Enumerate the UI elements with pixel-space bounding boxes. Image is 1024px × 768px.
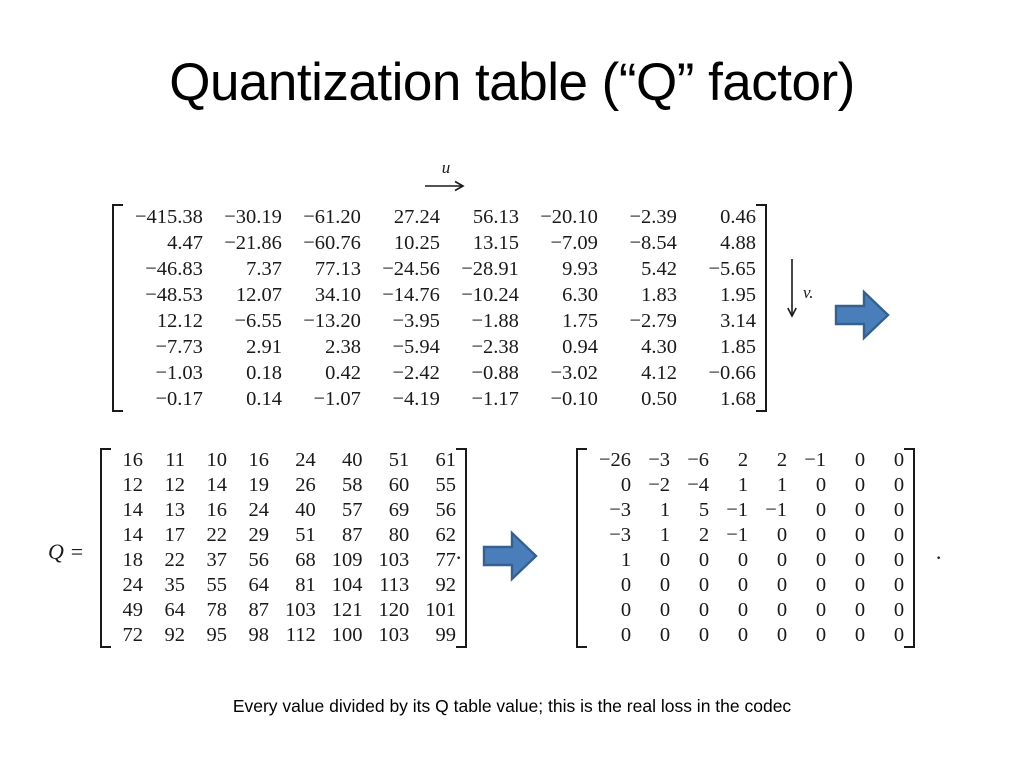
matrix-cell: 12 <box>111 473 143 498</box>
matrix-cell: 77.13 <box>282 256 361 282</box>
matrix-cell: 78 <box>185 598 227 623</box>
matrix-cell: −48.53 <box>123 282 203 308</box>
matrix-cell: 16 <box>185 498 227 523</box>
matrix-cell: 4.47 <box>123 230 203 256</box>
matrix-cell: 0 <box>787 573 826 598</box>
table-row: 49 64 78 87 103 121 120 101 <box>111 598 456 623</box>
matrix-cell: 1.83 <box>598 282 677 308</box>
matrix-cell: −2.79 <box>598 308 677 334</box>
matrix-cell: −1.07 <box>282 386 361 412</box>
matrix-cell: 81 <box>269 573 316 598</box>
matrix-cell: 11 <box>143 448 185 473</box>
matrix-cell: −0.10 <box>519 386 598 412</box>
matrix-cell: −5.94 <box>361 334 440 360</box>
matrix-cell: 103 <box>363 548 410 573</box>
matrix-cell: 80 <box>363 523 410 548</box>
matrix-cell: −6 <box>670 448 709 473</box>
matrix-cell: 1.95 <box>677 282 756 308</box>
table-row: 14 17 22 29 51 87 80 62 <box>111 523 456 548</box>
matrix-cell: −28.91 <box>440 256 519 282</box>
matrix-cell: 24 <box>227 498 269 523</box>
matrix-cell: 0 <box>826 473 865 498</box>
table-row: −26 −3 −6 2 2 −1 0 0 <box>587 448 904 473</box>
matrix-cell: 13 <box>143 498 185 523</box>
matrix-cell: 109 <box>316 548 363 573</box>
matrix-cell: 0.18 <box>203 360 282 386</box>
matrix-cell: 2 <box>709 448 748 473</box>
table-row: −3 1 5 −1 −1 0 0 0 <box>587 498 904 523</box>
matrix-cell: 14 <box>185 473 227 498</box>
matrix-cell: 0 <box>826 548 865 573</box>
table-row: 14 13 16 24 40 57 69 56 <box>111 498 456 523</box>
matrix-cell: 0 <box>787 523 826 548</box>
matrix-cell: 0 <box>631 598 670 623</box>
matrix-cell: 55 <box>409 473 456 498</box>
matrix-cell: 51 <box>269 523 316 548</box>
matrix-cell: 0 <box>865 448 904 473</box>
matrix-cell: 0 <box>865 573 904 598</box>
matrix-cell: 61 <box>409 448 456 473</box>
matrix-cell: 87 <box>316 523 363 548</box>
matrix-cell: 0 <box>587 598 631 623</box>
table-row: 72 92 95 98 112 100 103 99 <box>111 623 456 648</box>
matrix-cell: 0 <box>748 548 787 573</box>
matrix-cell: 34.10 <box>282 282 361 308</box>
table-row: 0 0 0 0 0 0 0 0 <box>587 573 904 598</box>
quantization-table-matrix: 16 11 10 16 24 40 51 61 12 12 14 19 26 5… <box>100 448 467 648</box>
matrix-cell: 113 <box>363 573 410 598</box>
matrix-cell: 18 <box>111 548 143 573</box>
matrix-cell: 0 <box>865 598 904 623</box>
matrix-cell: −3 <box>631 448 670 473</box>
matrix-cell: 60 <box>363 473 410 498</box>
matrix-cell: −61.20 <box>282 204 361 230</box>
table-row: 24 35 55 64 81 104 113 92 <box>111 573 456 598</box>
matrix-cell: 101 <box>409 598 456 623</box>
matrix-cell: 4.88 <box>677 230 756 256</box>
block-arrow-right-icon <box>834 289 890 341</box>
table-row: −0.17 0.14 −1.07 −4.19 −1.17 −0.10 0.50 … <box>123 386 756 412</box>
matrix-cell: −60.76 <box>282 230 361 256</box>
matrix-cell: 0 <box>787 623 826 648</box>
matrix-cell: −0.66 <box>677 360 756 386</box>
matrix-cell: −0.17 <box>123 386 203 412</box>
arrow-down-icon <box>786 258 798 327</box>
matrix-cell: 26 <box>269 473 316 498</box>
matrix-cell: 1.75 <box>519 308 598 334</box>
matrix-cell: −46.83 <box>123 256 203 282</box>
matrix-cell: 37 <box>185 548 227 573</box>
table-row: 0 0 0 0 0 0 0 0 <box>587 623 904 648</box>
matrix-cell: 0 <box>670 548 709 573</box>
matrix-cell: 100 <box>316 623 363 648</box>
matrix-cell: 16 <box>111 448 143 473</box>
matrix-cell: 17 <box>143 523 185 548</box>
table-row: 1 0 0 0 0 0 0 0 <box>587 548 904 573</box>
matrix-cell: 0.50 <box>598 386 677 412</box>
matrix-cell: 22 <box>185 523 227 548</box>
matrix-bracket-left <box>112 204 123 412</box>
matrix-cell: −2.39 <box>598 204 677 230</box>
matrix-cell: 19 <box>227 473 269 498</box>
v-axis-label: v. <box>786 258 814 327</box>
matrix-cell: 0 <box>748 598 787 623</box>
matrix-cell: 1 <box>709 473 748 498</box>
matrix-cell: 10 <box>185 448 227 473</box>
matrix-cell: 0 <box>587 573 631 598</box>
matrix-cell: −1.17 <box>440 386 519 412</box>
matrix-cell: 40 <box>316 448 363 473</box>
u-axis-label: u <box>414 160 478 192</box>
table-row: −48.53 12.07 34.10 −14.76 −10.24 6.30 1.… <box>123 282 756 308</box>
matrix-cell: 4.12 <box>598 360 677 386</box>
matrix-cell: 64 <box>143 598 185 623</box>
matrix-cell: 121 <box>316 598 363 623</box>
matrix-cell: 55 <box>185 573 227 598</box>
matrix-cell: 64 <box>227 573 269 598</box>
matrix-cell: 99 <box>409 623 456 648</box>
matrix-cell: 77 <box>409 548 456 573</box>
matrix-cell: 49 <box>111 598 143 623</box>
matrix-cell: 16 <box>227 448 269 473</box>
matrix-cell: −14.76 <box>361 282 440 308</box>
matrix-cell: −5.65 <box>677 256 756 282</box>
matrix-cell: 72 <box>111 623 143 648</box>
matrix-cell: 0 <box>865 523 904 548</box>
matrix-cell: −0.88 <box>440 360 519 386</box>
page-title: Quantization table (“Q” factor) <box>0 52 1024 113</box>
matrix-cell: 0 <box>826 573 865 598</box>
matrix-cell: −13.20 <box>282 308 361 334</box>
matrix-cell: 0 <box>709 598 748 623</box>
matrix-cell: −21.86 <box>203 230 282 256</box>
matrix-cell: 1.85 <box>677 334 756 360</box>
matrix-cell: 120 <box>363 598 410 623</box>
matrix-cell: 3.14 <box>677 308 756 334</box>
table-row: −3 1 2 −1 0 0 0 0 <box>587 523 904 548</box>
matrix-cell: 0 <box>670 598 709 623</box>
result-matrix-trailing-dot: · <box>935 545 942 571</box>
slide-caption: Every value divided by its Q table value… <box>0 696 1024 717</box>
matrix-cell: 29 <box>227 523 269 548</box>
matrix-cell: 56.13 <box>440 204 519 230</box>
matrix-bracket-left <box>100 448 111 648</box>
matrix-cell: 1 <box>631 523 670 548</box>
matrix-cell: 0 <box>748 573 787 598</box>
matrix-cell: 0 <box>709 623 748 648</box>
matrix-cell: 5.42 <box>598 256 677 282</box>
matrix-cell: 0 <box>709 548 748 573</box>
matrix-cell: 104 <box>316 573 363 598</box>
matrix-cell: 2 <box>670 523 709 548</box>
matrix-cell: −2.42 <box>361 360 440 386</box>
matrix-cell: 0.42 <box>282 360 361 386</box>
dct-coefficient-matrix: −415.38 −30.19 −61.20 27.24 56.13 −20.10… <box>112 204 767 412</box>
matrix-cell: 12.07 <box>203 282 282 308</box>
v-axis-letter: v. <box>803 283 814 303</box>
dct-matrix-table: −415.38 −30.19 −61.20 27.24 56.13 −20.10… <box>123 204 756 412</box>
table-row: 4.47 −21.86 −60.76 10.25 13.15 −7.09 −8.… <box>123 230 756 256</box>
matrix-cell: 51 <box>363 448 410 473</box>
matrix-cell: 5 <box>670 498 709 523</box>
matrix-cell: 1 <box>587 548 631 573</box>
matrix-cell: −1 <box>709 498 748 523</box>
matrix-bracket-right <box>756 204 767 412</box>
matrix-cell: 0.94 <box>519 334 598 360</box>
matrix-cell: 58 <box>316 473 363 498</box>
matrix-cell: 14 <box>111 523 143 548</box>
arrow-right-icon <box>414 180 478 192</box>
matrix-cell: 0 <box>631 623 670 648</box>
matrix-bracket-left <box>576 448 587 648</box>
matrix-cell: −26 <box>587 448 631 473</box>
matrix-cell: −415.38 <box>123 204 203 230</box>
matrix-cell: 69 <box>363 498 410 523</box>
quantized-coefficient-matrix: −26 −3 −6 2 2 −1 0 0 0 −2 −4 1 1 0 0 0 −… <box>576 448 915 648</box>
matrix-cell: −8.54 <box>598 230 677 256</box>
matrix-cell: 103 <box>269 598 316 623</box>
matrix-cell: 0 <box>587 473 631 498</box>
matrix-cell: 0 <box>865 473 904 498</box>
matrix-cell: 0 <box>787 473 826 498</box>
table-row: −415.38 −30.19 −61.20 27.24 56.13 −20.10… <box>123 204 756 230</box>
matrix-cell: 0 <box>631 573 670 598</box>
matrix-cell: −1 <box>787 448 826 473</box>
matrix-cell: 2.38 <box>282 334 361 360</box>
matrix-cell: −1 <box>748 498 787 523</box>
matrix-cell: 9.93 <box>519 256 598 282</box>
matrix-cell: 92 <box>409 573 456 598</box>
matrix-cell: 0 <box>709 573 748 598</box>
matrix-cell: 6.30 <box>519 282 598 308</box>
matrix-cell: −1 <box>709 523 748 548</box>
matrix-cell: 0 <box>631 548 670 573</box>
matrix-cell: 1.68 <box>677 386 756 412</box>
matrix-cell: 12.12 <box>123 308 203 334</box>
matrix-cell: 2.91 <box>203 334 282 360</box>
matrix-cell: 0 <box>826 623 865 648</box>
table-row: 16 11 10 16 24 40 51 61 <box>111 448 456 473</box>
matrix-cell: 103 <box>363 623 410 648</box>
result-matrix-table: −26 −3 −6 2 2 −1 0 0 0 −2 −4 1 1 0 0 0 −… <box>587 448 904 648</box>
matrix-cell: 2 <box>748 448 787 473</box>
matrix-cell: 0 <box>826 498 865 523</box>
matrix-cell: 0 <box>787 548 826 573</box>
matrix-cell: −2.38 <box>440 334 519 360</box>
matrix-cell: −7.09 <box>519 230 598 256</box>
matrix-cell: 92 <box>143 623 185 648</box>
matrix-cell: 0 <box>587 623 631 648</box>
matrix-cell: 0 <box>865 623 904 648</box>
matrix-cell: 98 <box>227 623 269 648</box>
table-row: −46.83 7.37 77.13 −24.56 −28.91 9.93 5.4… <box>123 256 756 282</box>
matrix-cell: 0 <box>826 448 865 473</box>
matrix-cell: 0 <box>787 498 826 523</box>
table-row: −7.73 2.91 2.38 −5.94 −2.38 0.94 4.30 1.… <box>123 334 756 360</box>
matrix-cell: 0 <box>826 598 865 623</box>
matrix-cell: 62 <box>409 523 456 548</box>
matrix-cell: 0 <box>670 623 709 648</box>
matrix-cell: 13.15 <box>440 230 519 256</box>
matrix-cell: 7.37 <box>203 256 282 282</box>
matrix-cell: 40 <box>269 498 316 523</box>
matrix-cell: −6.55 <box>203 308 282 334</box>
block-arrow-right-icon <box>482 530 538 582</box>
matrix-cell: −3.95 <box>361 308 440 334</box>
matrix-cell: −30.19 <box>203 204 282 230</box>
table-row: 0 0 0 0 0 0 0 0 <box>587 598 904 623</box>
q-matrix-table: 16 11 10 16 24 40 51 61 12 12 14 19 26 5… <box>111 448 456 648</box>
matrix-cell: 0.14 <box>203 386 282 412</box>
matrix-cell: −1.03 <box>123 360 203 386</box>
matrix-cell: 0 <box>787 598 826 623</box>
matrix-cell: −7.73 <box>123 334 203 360</box>
matrix-cell: −10.24 <box>440 282 519 308</box>
matrix-cell: −20.10 <box>519 204 598 230</box>
matrix-cell: 95 <box>185 623 227 648</box>
matrix-cell: 112 <box>269 623 316 648</box>
matrix-cell: 0 <box>748 623 787 648</box>
matrix-cell: −24.56 <box>361 256 440 282</box>
matrix-cell: 1 <box>631 498 670 523</box>
matrix-cell: −4.19 <box>361 386 440 412</box>
matrix-cell: 56 <box>409 498 456 523</box>
matrix-cell: −3 <box>587 498 631 523</box>
matrix-cell: 57 <box>316 498 363 523</box>
matrix-cell: 87 <box>227 598 269 623</box>
matrix-cell: 10.25 <box>361 230 440 256</box>
matrix-cell: 0 <box>826 523 865 548</box>
matrix-cell: −4 <box>670 473 709 498</box>
matrix-cell: 14 <box>111 498 143 523</box>
table-row: −1.03 0.18 0.42 −2.42 −0.88 −3.02 4.12 −… <box>123 360 756 386</box>
q-matrix-trailing-dot: · <box>455 545 462 571</box>
matrix-cell: 1 <box>748 473 787 498</box>
table-row: 0 −2 −4 1 1 0 0 0 <box>587 473 904 498</box>
matrix-cell: −2 <box>631 473 670 498</box>
table-row: 18 22 37 56 68 109 103 77 <box>111 548 456 573</box>
u-axis-letter: u <box>414 160 478 176</box>
matrix-cell: −1.88 <box>440 308 519 334</box>
matrix-cell: 22 <box>143 548 185 573</box>
matrix-cell: −3 <box>587 523 631 548</box>
matrix-cell: 0 <box>670 573 709 598</box>
matrix-cell: 4.30 <box>598 334 677 360</box>
table-row: 12 12 14 19 26 58 60 55 <box>111 473 456 498</box>
matrix-cell: −3.02 <box>519 360 598 386</box>
matrix-cell: 0 <box>865 498 904 523</box>
matrix-cell: 56 <box>227 548 269 573</box>
matrix-cell: 68 <box>269 548 316 573</box>
matrix-cell: 35 <box>143 573 185 598</box>
matrix-cell: 0 <box>865 548 904 573</box>
matrix-cell: 27.24 <box>361 204 440 230</box>
matrix-cell: 0.46 <box>677 204 756 230</box>
matrix-cell: 12 <box>143 473 185 498</box>
matrix-bracket-right <box>904 448 915 648</box>
q-matrix-label: Q = <box>48 539 84 565</box>
matrix-cell: 24 <box>111 573 143 598</box>
matrix-cell: 24 <box>269 448 316 473</box>
matrix-cell: 0 <box>748 523 787 548</box>
table-row: 12.12 −6.55 −13.20 −3.95 −1.88 1.75 −2.7… <box>123 308 756 334</box>
